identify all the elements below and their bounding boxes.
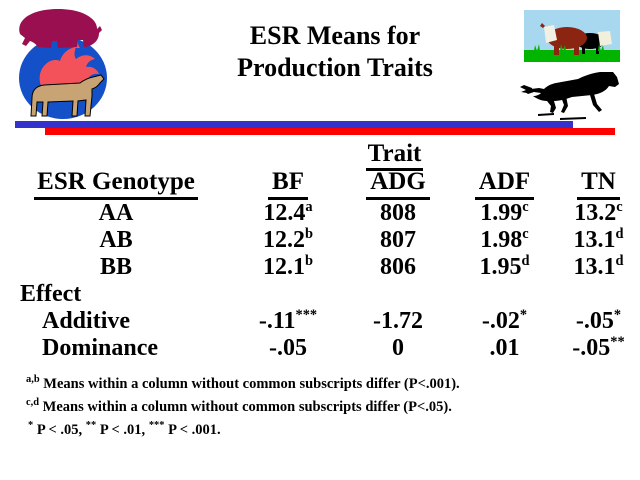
footnote-cd-text: Means within a column without common sub… <box>43 399 452 415</box>
title-line-2: Production Traits <box>170 52 500 84</box>
effect-heading-row: Effect <box>0 281 640 308</box>
cell-effect-tn: -.05** <box>557 335 640 362</box>
footnote-star2-text: P < .01, <box>100 422 145 438</box>
cow-white-head <box>598 31 612 46</box>
cell-effect-tn: -.05* <box>557 308 640 335</box>
esr-means-table: Trait ESR Genotype BF ADG ADF TN AA 12.4… <box>0 138 640 362</box>
horse-body-shape <box>525 72 619 113</box>
footnote-marker-star1: * <box>28 420 33 431</box>
footnotes-block: a,b Means within a column without common… <box>26 373 626 442</box>
sup-adf: c <box>522 226 528 242</box>
cell-genotype: AA <box>0 200 232 227</box>
divider-bar-blue <box>15 121 573 128</box>
slide-canvas: ESR Means for Production Traits Trait ES… <box>0 0 640 480</box>
footnote-marker-star2: ** <box>86 420 96 431</box>
cell-tn: 13.1d <box>557 227 640 254</box>
footnote-star1-text: P < .05, <box>37 422 82 438</box>
footnote-significance: * P < .05, ** P < .01, *** P < .001. <box>26 419 626 442</box>
spacer-cell-right <box>557 138 640 168</box>
title-line-1: ESR Means for <box>170 20 500 52</box>
sup-tn: c <box>616 199 622 215</box>
effect-label-additive: Additive <box>0 308 232 335</box>
cell-adf: 1.95d <box>452 254 557 281</box>
hereford-leg2 <box>574 46 579 55</box>
sup-tn: * <box>614 307 621 323</box>
trait-group-label: Trait <box>366 140 424 171</box>
horse-tail <box>520 85 533 93</box>
cell-effect-adg: 0 <box>344 335 452 362</box>
table-row: AA 12.4a 808 1.99c 13.2c <box>0 200 640 227</box>
horse-dust-2 <box>560 117 586 120</box>
cell-bf: 12.1b <box>232 254 344 281</box>
grass-band <box>524 50 620 62</box>
footnote-star3-text: P < .001. <box>168 422 221 438</box>
cell-effect-adf: .01 <box>452 335 557 362</box>
cell-bf: 12.2b <box>232 227 344 254</box>
sup-tn: d <box>615 253 623 269</box>
cell-effect-adf: -.02* <box>452 308 557 335</box>
sup-adf: * <box>520 307 527 323</box>
spacer-cell <box>557 281 640 308</box>
sup-adf: c <box>522 199 528 215</box>
cell-effect-bf: -.11*** <box>232 308 344 335</box>
sup-tn: ** <box>610 334 624 350</box>
sup-bf: a <box>305 199 312 215</box>
cell-adf: 1.99c <box>452 200 557 227</box>
table-header-row: ESR Genotype BF ADG ADF TN <box>0 168 640 200</box>
sup-bf: b <box>305 253 313 269</box>
cell-genotype: BB <box>0 254 232 281</box>
spacer-cell <box>344 281 452 308</box>
horse-dust-1 <box>538 113 554 116</box>
divider-bar-red <box>45 128 615 135</box>
cattle-pasture-photo <box>524 10 620 62</box>
cell-genotype: AB <box>0 227 232 254</box>
footnote-marker-cd: c,d <box>26 397 39 408</box>
pig-shape <box>19 9 102 48</box>
table-row: AB 12.2b 807 1.98c 13.1d <box>0 227 640 254</box>
horse-front-leg <box>590 94 602 112</box>
column-header-adf: ADF <box>452 168 557 200</box>
spacer-cell <box>0 138 232 168</box>
footnote-ab: a,b Means within a column without common… <box>26 373 626 396</box>
sup-bf: b <box>305 226 313 242</box>
livestock-roundel-logo <box>8 2 118 124</box>
cell-bf: 12.4a <box>232 200 344 227</box>
footnote-cd: c,d Means within a column without common… <box>26 396 626 419</box>
footnote-ab-text: Means within a column without common sub… <box>43 376 459 392</box>
cell-effect-bf: -.05 <box>232 335 344 362</box>
hereford-leg1 <box>554 46 559 55</box>
sup-bf: *** <box>296 307 318 323</box>
galloping-horse-silhouette <box>520 68 625 124</box>
effect-label-dominance: Dominance <box>0 335 232 362</box>
table-supergroup-row: Trait <box>0 138 640 168</box>
cell-adf: 1.98c <box>452 227 557 254</box>
trait-group-header: Trait <box>232 138 557 168</box>
cow-black-leg1 <box>582 47 585 54</box>
effect-heading-label: Effect <box>0 281 232 308</box>
column-header-adg: ADG <box>344 168 452 200</box>
effect-row: Additive -.11*** -1.72 -.02* -.05* <box>0 308 640 335</box>
column-header-bf: BF <box>232 168 344 200</box>
sup-adf: d <box>521 253 529 269</box>
spacer-cell <box>232 281 344 308</box>
cell-tn: 13.1d <box>557 254 640 281</box>
footnote-marker-ab: a,b <box>26 374 40 385</box>
spacer-cell <box>452 281 557 308</box>
table-row: BB 12.1b 806 1.95d 13.1d <box>0 254 640 281</box>
effect-row: Dominance -.05 0 .01 -.05** <box>0 335 640 362</box>
footnote-marker-star3: *** <box>149 420 165 431</box>
sup-tn: d <box>615 226 623 242</box>
column-header-genotype: ESR Genotype <box>0 168 232 200</box>
cell-tn: 13.2c <box>557 200 640 227</box>
cell-adg: 807 <box>344 227 452 254</box>
column-header-tn: TN <box>557 168 640 200</box>
cell-effect-adg: -1.72 <box>344 308 452 335</box>
cell-adg: 806 <box>344 254 452 281</box>
cell-adg: 808 <box>344 200 452 227</box>
page-title: ESR Means for Production Traits <box>170 20 500 84</box>
